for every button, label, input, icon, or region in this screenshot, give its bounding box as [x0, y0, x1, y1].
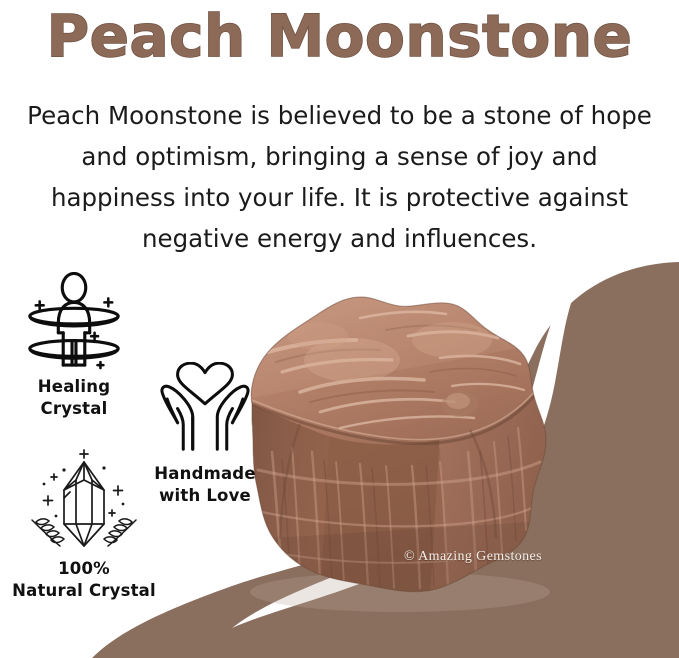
watermark: © Amazing Gemstones	[404, 549, 542, 565]
badge-healing-crystal: Healing Crystal	[8, 272, 140, 420]
badge-natural-crystal-label: 100% Natural Crystal	[4, 558, 164, 602]
badge-natural-crystal: 100% Natural Crystal	[4, 448, 164, 602]
page-title: Peach Moonstone	[0, 2, 679, 70]
hands-holding-heart-icon	[153, 362, 257, 457]
badge-healing-crystal-label: Healing Crystal	[8, 376, 140, 420]
crystal-point-laurel-icon	[22, 448, 146, 554]
healing-aura-figure-icon	[19, 272, 129, 370]
stone-outline	[251, 297, 546, 592]
product-infographic: Peach Moonstone Peach Moonstone is belie…	[0, 0, 679, 658]
description-text: Peach Moonstone is believed to be a ston…	[16, 95, 663, 259]
swoosh-cutout	[232, 258, 596, 628]
stone-shadow	[250, 572, 550, 612]
